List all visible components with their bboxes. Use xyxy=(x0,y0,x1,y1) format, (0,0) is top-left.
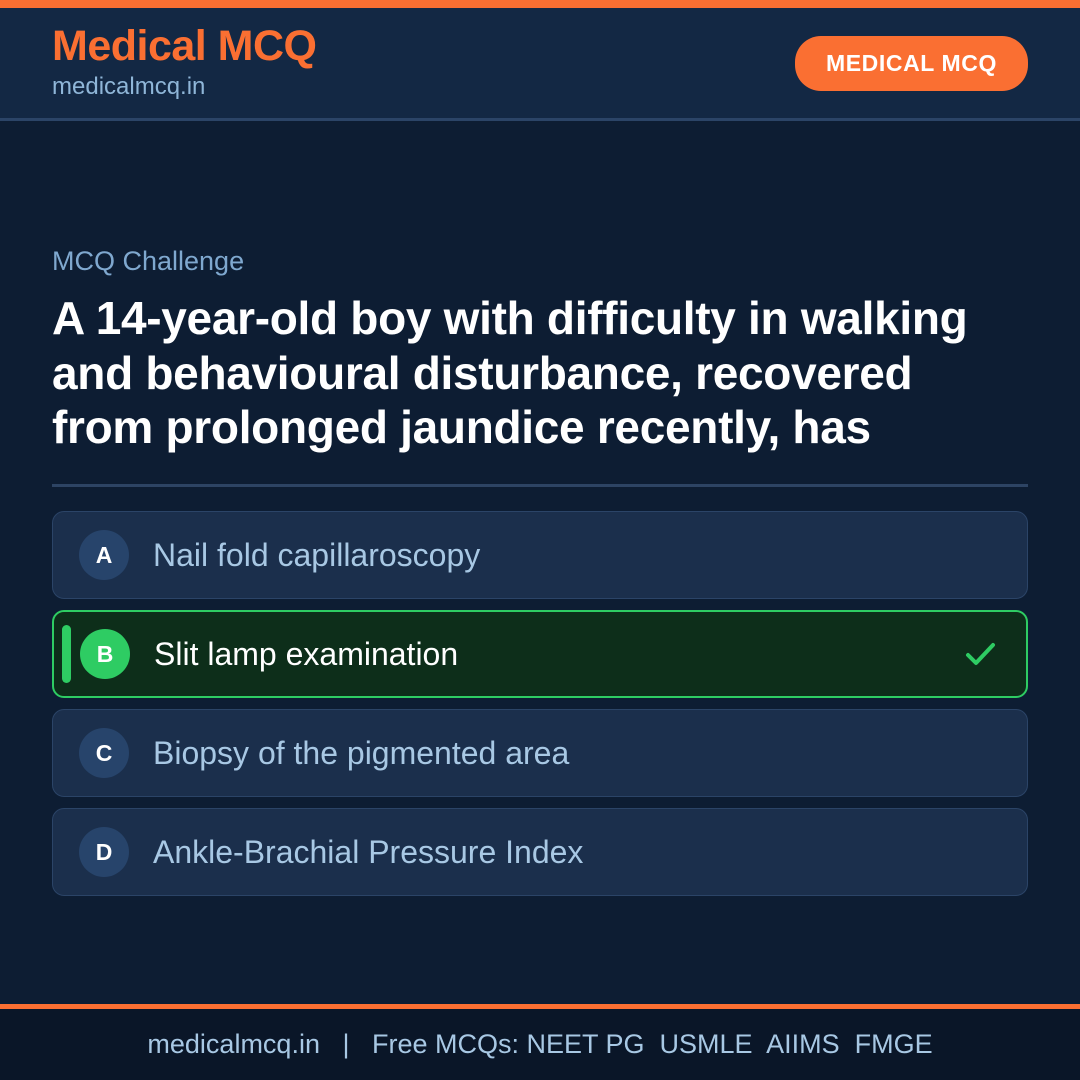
option-label: Ankle-Brachial Pressure Index xyxy=(153,833,961,871)
option-label: Biopsy of the pigmented area xyxy=(153,734,961,772)
content-area: MCQ Challenge A 14-year-old boy with dif… xyxy=(0,121,1080,1004)
header-badge: MEDICAL MCQ xyxy=(795,36,1028,91)
option-letter-badge: A xyxy=(79,530,129,580)
top-accent-bar xyxy=(0,0,1080,8)
body-spacer xyxy=(52,896,1028,1004)
option-d[interactable]: D Ankle-Brachial Pressure Index xyxy=(52,808,1028,896)
brand-subtitle: medicalmcq.in xyxy=(52,72,317,102)
mcq-card: Medical MCQ medicalmcq.in MEDICAL MCQ MC… xyxy=(0,0,1080,1080)
option-letter-badge: D xyxy=(79,827,129,877)
header: Medical MCQ medicalmcq.in MEDICAL MCQ xyxy=(0,8,1080,121)
footer-text: medicalmcq.in | Free MCQs: NEET PG USMLE… xyxy=(147,1028,932,1060)
footer: medicalmcq.in | Free MCQs: NEET PG USMLE… xyxy=(0,1009,1080,1080)
option-letter-badge: C xyxy=(79,728,129,778)
eyebrow-label: MCQ Challenge xyxy=(52,245,1028,277)
question-text: A 14-year-old boy with difficulty in wal… xyxy=(52,291,1012,454)
options-list: A Nail fold capillaroscopy B Slit lamp e… xyxy=(52,511,1028,896)
option-letter-badge: B xyxy=(80,629,130,679)
option-label: Nail fold capillaroscopy xyxy=(153,536,961,574)
option-c[interactable]: C Biopsy of the pigmented area xyxy=(52,709,1028,797)
question-divider xyxy=(52,484,1028,487)
option-b[interactable]: B Slit lamp examination xyxy=(52,610,1028,698)
check-icon xyxy=(960,634,1000,674)
option-label: Slit lamp examination xyxy=(154,635,960,673)
brand-title: Medical MCQ xyxy=(52,24,317,70)
option-a[interactable]: A Nail fold capillaroscopy xyxy=(52,511,1028,599)
brand-block: Medical MCQ medicalmcq.in xyxy=(52,24,317,103)
correct-accent-bar xyxy=(62,625,71,683)
